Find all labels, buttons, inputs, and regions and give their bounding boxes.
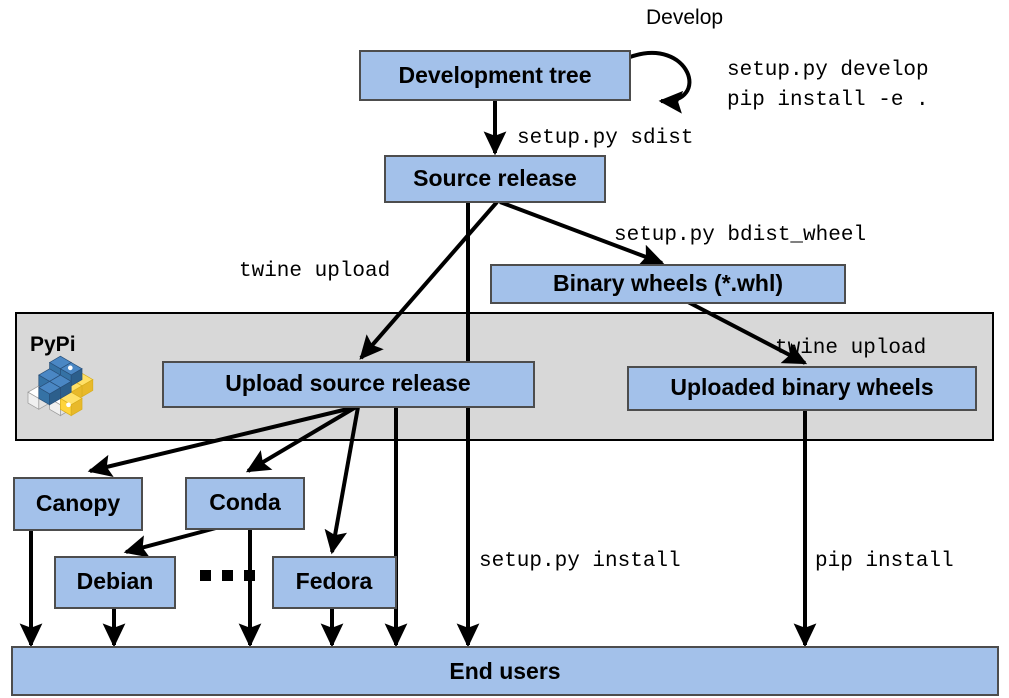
node-conda-label: Conda [209, 489, 281, 515]
edge-label-setup-py-bdist-wheel: setup.py bdist_wheel [614, 224, 866, 247]
node-canopy-label: Canopy [36, 490, 121, 516]
ellipsis-dots [200, 570, 255, 581]
edge-label-develop: Develop [646, 6, 723, 29]
node-development-tree-label: Development tree [398, 62, 591, 88]
node-binary-wheels-label: Binary wheels (*.whl) [553, 270, 783, 296]
edge-conda-to-debian [126, 528, 216, 552]
edge-develop-loop [630, 53, 689, 101]
node-upload-source-release-label: Upload source release [225, 370, 470, 396]
edge-label-setup-py-develop: setup.py develop [727, 59, 929, 82]
edge-label-setup-py-sdist: setup.py sdist [517, 127, 693, 150]
edge-label-pip-install: pip install [815, 550, 954, 573]
diagram-svg: Development tree Source release Binary w… [0, 0, 1009, 698]
diagram-canvas: Development tree Source release Binary w… [0, 0, 1009, 698]
node-source-release-label: Source release [413, 165, 577, 191]
edge-label-pip-install-editable: pip install -e . [727, 89, 929, 112]
node-uploaded-binary-wheels-label: Uploaded binary wheels [670, 374, 933, 400]
edge-label-twine-upload-source: twine upload [239, 260, 390, 283]
edge-label-setup-py-install: setup.py install [479, 550, 681, 573]
node-debian-label: Debian [77, 568, 154, 594]
node-end-users-label: End users [449, 658, 560, 684]
edge-label-twine-upload-wheels: twine upload [775, 337, 926, 360]
node-fedora-label: Fedora [296, 568, 373, 594]
pypi-group-label: PyPi [30, 333, 76, 356]
